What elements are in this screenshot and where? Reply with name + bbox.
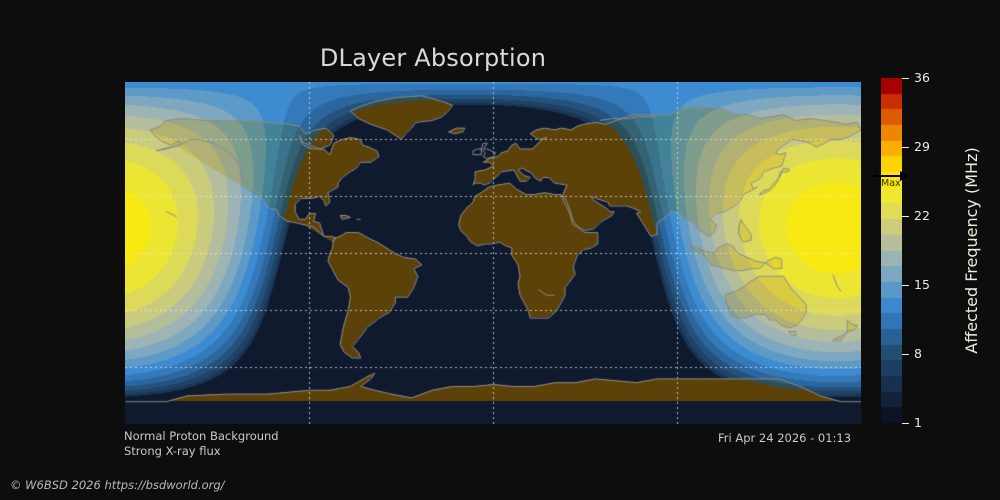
tick-label: 15	[914, 277, 930, 293]
page-title: DLayer Absorption	[0, 44, 866, 72]
tick-mark	[902, 216, 909, 217]
absorption-map[interactable]	[125, 82, 861, 424]
max-arrow-icon	[874, 175, 908, 177]
timestamp: Fri Apr 24 2026 - 01:13	[718, 431, 851, 445]
tick-label: 36	[914, 70, 930, 86]
status-captions: Normal Proton Background Strong X-ray fl…	[124, 429, 279, 459]
caption-line-2: Strong X-ray flux	[124, 444, 279, 459]
tick-mark	[902, 78, 909, 79]
colorbar	[881, 78, 902, 423]
tick-label: 8	[914, 346, 922, 362]
tick-label: 1	[914, 415, 922, 431]
colorbar-axis-label: Affected Frequency (MHz)	[961, 78, 983, 423]
tick-mark	[902, 354, 909, 355]
tick-mark	[902, 285, 909, 286]
max-marker-label: Max	[881, 178, 901, 189]
tick-label: 29	[914, 139, 930, 155]
colorbar-gradient	[881, 78, 902, 423]
tick-mark	[902, 423, 909, 424]
tick-mark	[902, 147, 909, 148]
max-marker: Max	[874, 169, 914, 191]
map-canvas	[125, 82, 861, 424]
copyright-notice: © W6BSD 2026 https://bsdworld.org/	[10, 478, 225, 492]
tick-label: 22	[914, 208, 930, 224]
caption-line-1: Normal Proton Background	[124, 429, 279, 444]
